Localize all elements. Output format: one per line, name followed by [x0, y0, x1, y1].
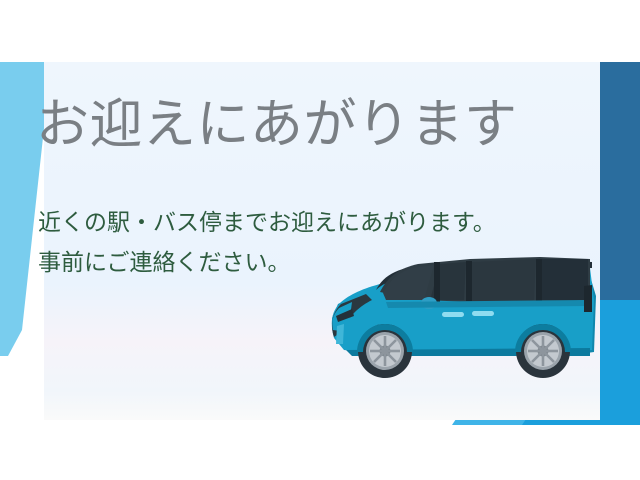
car-d-pillar [536, 259, 542, 301]
banner-artwork [0, 0, 640, 480]
car-front-door-handle [442, 312, 464, 317]
car-rear-door-glass [470, 259, 536, 301]
car-quarter-glass [540, 259, 588, 300]
car-tail-lamp [584, 285, 592, 312]
car-b-pillar [434, 262, 440, 302]
card-surface [44, 62, 600, 420]
promo-banner: お迎えにあがります 近くの駅・バス停までお迎えにあがります。 事前にご連絡くださ… [0, 0, 640, 480]
car-c-pillar [466, 261, 472, 301]
right-dark-stripe [600, 62, 640, 330]
car-rear-door-handle [472, 311, 494, 316]
car-front-vent [336, 324, 344, 344]
